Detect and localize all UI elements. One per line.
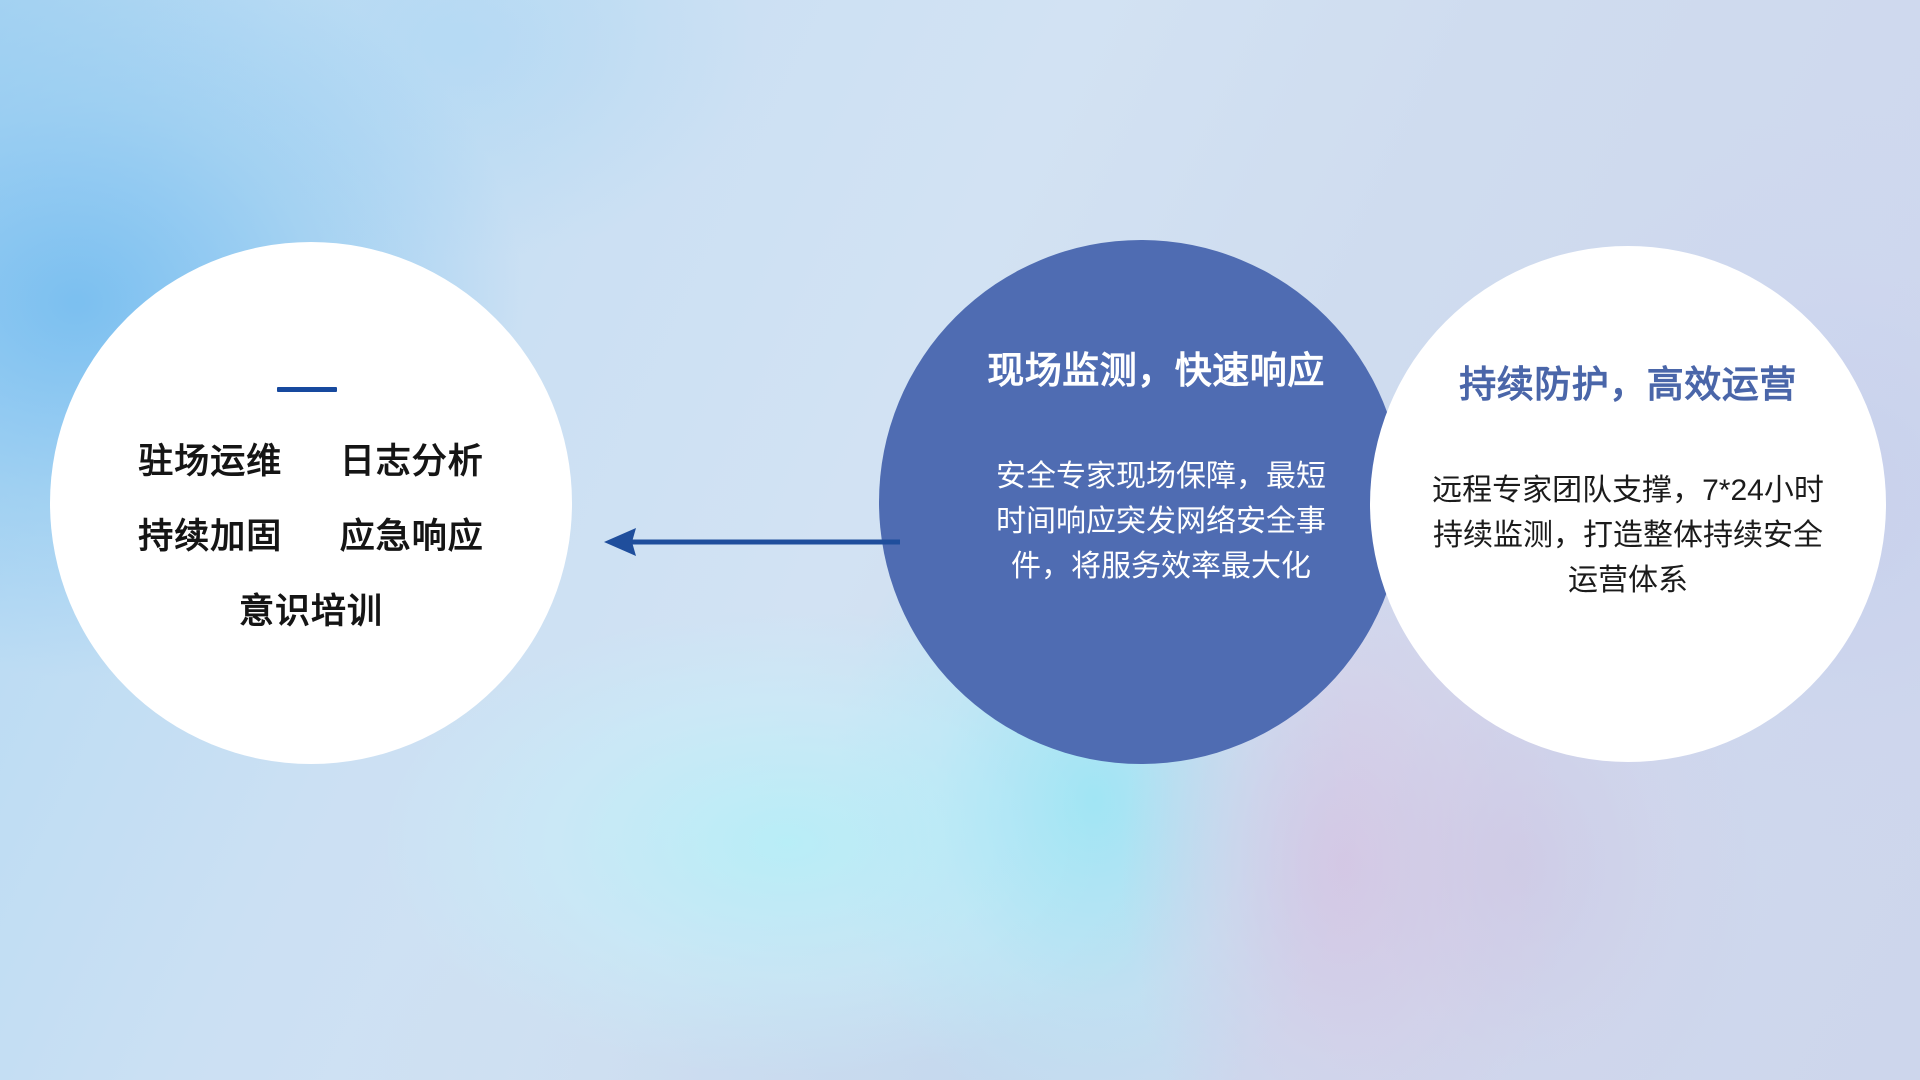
onsite-monitoring-title: 现场监测，快速响应 — [987, 340, 1325, 394]
continuous-protection-body: 远程专家团队支撑，7*24小时持续监测，打造整体持续安全运营体系 — [1423, 468, 1833, 603]
continuous-protection-content: 持续防护，高效运营 远程专家团队支撑，7*24小时持续监测，打造整体持续安全运营… — [1370, 246, 1886, 762]
capability-row-2: 持续加固 应急响应 — [138, 519, 484, 554]
capability-label-continuous-hardening: 持续加固 — [138, 517, 282, 556]
capability-label-awareness-training: 意识培训 — [239, 592, 383, 631]
capability-row-3: 意识培训 — [239, 594, 383, 629]
onsite-monitoring-circle[interactable]: 现场监测，快速响应 安全专家现场保障，最短时间响应突发网络安全事件，将服务效率最… — [879, 240, 1403, 764]
capabilities-content: 驻场运维 日志分析 持续加固 应急响应 意识培训 — [50, 242, 572, 764]
onsite-monitoring-body: 安全专家现场保障，最短时间响应突发网络安全事件，将服务效率最大化 — [996, 454, 1326, 589]
leftward-flow-arrow — [600, 512, 900, 572]
capabilities-circle[interactable]: 驻场运维 日志分析 持续加固 应急响应 意识培训 — [50, 242, 572, 764]
continuous-protection-circle[interactable]: 持续防护，高效运营 远程专家团队支撑，7*24小时持续监测，打造整体持续安全运营… — [1370, 246, 1886, 762]
continuous-protection-title: 持续防护，高效运营 — [1459, 354, 1797, 408]
capability-label-onsite-ops: 驻场运维 — [138, 442, 282, 481]
divider-line — [277, 387, 337, 392]
slide-canvas: 驻场运维 日志分析 持续加固 应急响应 意识培训 现场监测，快速响应 安全专家现… — [0, 0, 1920, 1080]
capability-row-1: 驻场运维 日志分析 — [138, 444, 484, 479]
onsite-monitoring-content: 现场监测，快速响应 安全专家现场保障，最短时间响应突发网络安全事件，将服务效率最… — [879, 240, 1403, 764]
arrow-head-icon — [604, 528, 636, 556]
capability-label-log-analysis: 日志分析 — [340, 442, 484, 481]
capability-label-emergency-response: 应急响应 — [340, 517, 484, 556]
